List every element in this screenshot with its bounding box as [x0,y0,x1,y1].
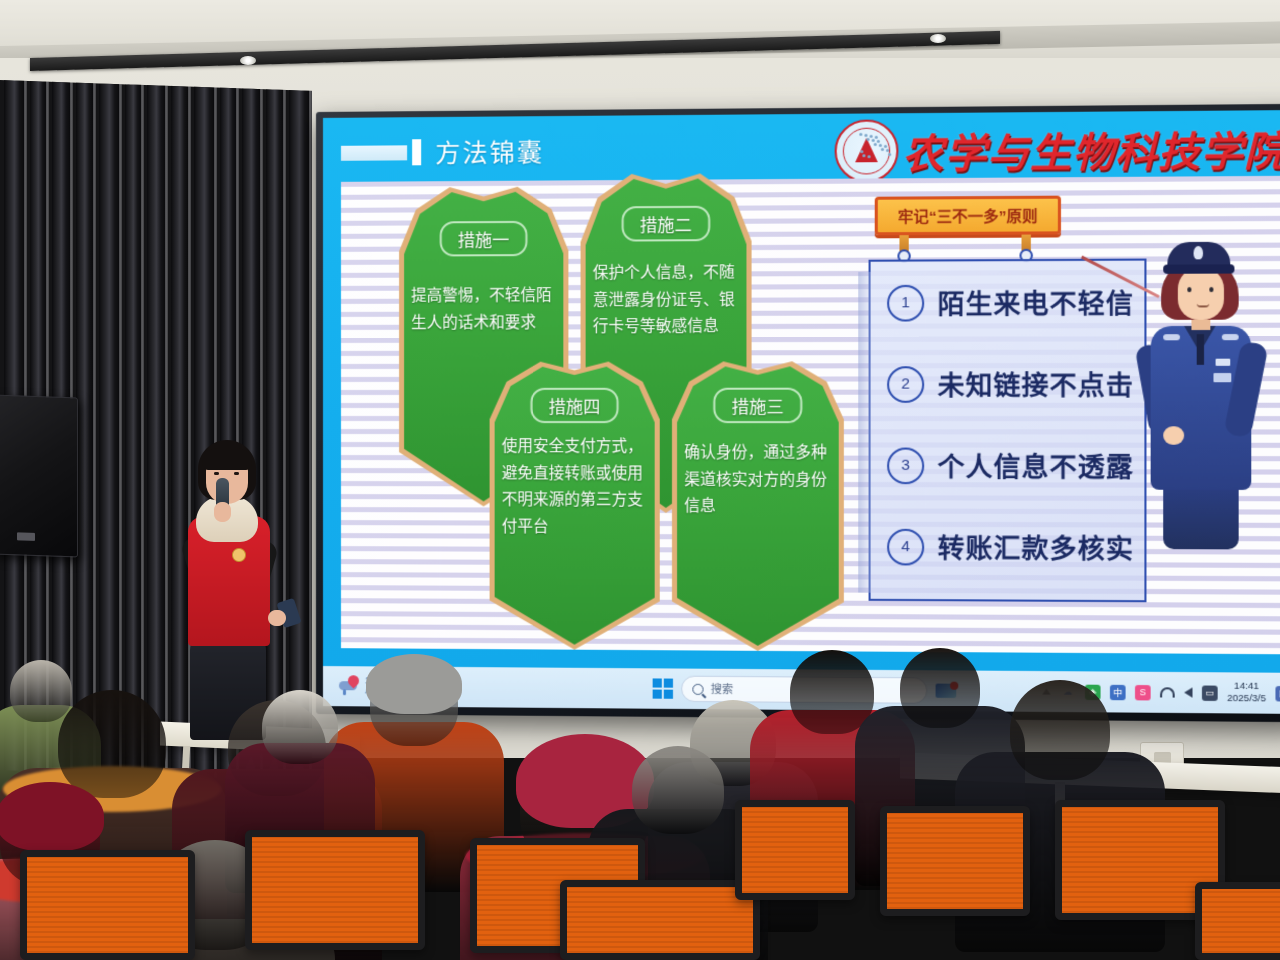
measure-text: 确认身份，通过多种渠道核实对方的身份信息 [684,440,833,521]
audience-chair [735,800,855,900]
vest-emblem [232,548,246,562]
audience-chair [1195,882,1280,960]
measure-text: 保护个人信息，不随意泄露身份证号、银行卡号等敏感信息 [593,260,742,341]
principle-list-card: 1 陌生来电不轻信 2 未知链接不点击 3 个人信息不透露 [869,259,1147,603]
college-logo: 农学与生物科技学院 [835,116,1280,182]
audience-chair [245,830,425,950]
wall-slat [147,80,165,781]
battery-icon[interactable]: ▭ [1202,685,1218,700]
wall-speaker [0,395,78,558]
start-button-icon[interactable] [653,678,673,698]
audience-head [58,690,166,798]
principle-panel: 牢记“三不一多”原则 1 陌生来电不轻信 2 未知 [864,194,1272,635]
search-placeholder: 搜索 [711,681,733,697]
wall-slat-gap [93,80,96,781]
item-number: 3 [887,447,924,484]
measure-badge: 措施一 [440,221,528,257]
audience-head [10,660,72,722]
audience-chair [880,806,1030,916]
projection-display-screen[interactable]: 方法锦囊 农学与生物科技学院 措施一 提高警惕，不轻信陌生人的 [323,110,1280,714]
wall-slat-gap [119,80,122,781]
item-text: 转账汇款多核实 [938,528,1134,566]
presenter-volunteer [176,440,296,740]
lecture-hall-photo: 方法锦囊 农学与生物科技学院 措施一 提高警惕，不轻信陌生人的 [0,0,1280,960]
slide-body: 措施一 提高警惕，不轻信陌生人的话术和要求 措施二 保护个人信息，不随意泄露身份… [341,176,1280,654]
clock-date: 2025/3/5 [1227,693,1266,705]
audience-head [262,690,338,764]
item-text: 陌生来电不轻信 [938,283,1134,321]
item-number: 4 [887,528,924,565]
principle-item: 4 转账汇款多核实 [887,528,1134,567]
item-number: 2 [887,366,924,403]
audience-chair [20,850,195,960]
measure-text: 提高警惕，不轻信陌生人的话术和要求 [411,283,558,337]
item-text: 个人信息不透露 [938,447,1134,485]
wall-slat [99,80,119,781]
audience-head [900,648,980,728]
measure-card-3: 措施三 确认身份，通过多种渠道核实对方的身份信息 [672,361,844,651]
ceiling-spot-light [240,56,256,65]
taskbar-clock[interactable]: 14:41 2025/3/5 [1227,681,1266,706]
weather-rain-icon [339,676,361,696]
search-icon [692,683,703,694]
audience-head [1010,680,1110,780]
speaker-brand-badge [17,532,35,541]
audience-hat [366,654,462,714]
projection-display-bezel: 方法锦囊 农学与生物科技学院 措施一 提高警惕，不轻信陌生人的 [316,104,1280,722]
wall-slat-gap [309,80,312,781]
wall-slat-gap [165,80,168,781]
college-seal-icon [835,119,899,182]
audience-chair [560,880,760,960]
slide-title-row: 方法锦囊 [341,134,544,170]
measure-card-4: 措施四 使用安全支付方式，避免直接转账或使用不明来源的第三方支付平台 [490,362,660,651]
principle-item: 2 未知链接不点击 [887,365,1134,403]
presenter-hand [214,502,231,522]
measure-text: 使用安全支付方式，避免直接转账或使用不明来源的第三方支付平台 [502,434,650,542]
volume-icon[interactable] [1184,687,1192,697]
item-number: 1 [887,284,924,321]
college-name: 农学与生物科技学院 [903,118,1280,180]
wall-slat [125,80,141,781]
title-accent-dash [341,145,407,160]
audience-head [632,746,724,834]
wifi-icon[interactable] [1160,687,1175,697]
audience-head [790,650,874,734]
measure-badge: 措施四 [530,388,618,423]
measure-badge: 措施二 [622,206,711,242]
audience-hat [0,782,104,851]
item-text: 未知链接不点击 [938,365,1134,403]
principle-item: 3 个人信息不透露 [887,447,1134,485]
principle-banner: 牢记“三不一多”原则 [875,196,1061,236]
title-accent-bar [412,139,421,165]
principle-item: 1 陌生来电不轻信 [887,283,1134,321]
clock-time: 14:41 [1227,681,1266,693]
wall-slat-gap [141,80,144,781]
slide-title: 方法锦囊 [435,133,544,170]
sogou-icon[interactable]: S [1135,684,1151,699]
presenter-hand [268,610,286,626]
police-officer-illustration [1136,235,1264,574]
ceiling-spot-light [930,34,946,43]
measure-badge: 措施三 [713,388,802,423]
ime-icon[interactable]: 中 [1110,684,1126,699]
wall-slat [76,80,93,781]
presentation-slide: 方法锦囊 农学与生物科技学院 措施一 提高警惕，不轻信陌生人的 [323,110,1280,673]
notification-icon[interactable]: ▤ [1275,686,1280,702]
